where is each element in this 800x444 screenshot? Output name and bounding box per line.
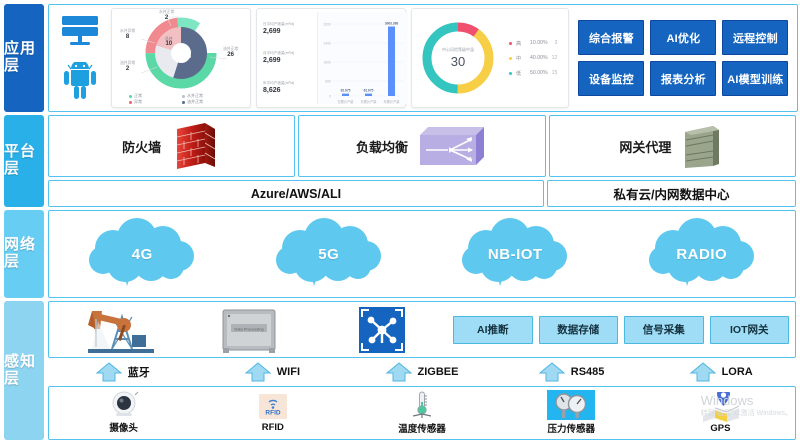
application-device-icons	[52, 8, 108, 108]
protocol-label-zigbee: ZIGBEE	[418, 366, 459, 378]
load-balancer-label: 负载均衡	[356, 137, 408, 156]
kpi-label: 日平均产液量(m³/d)	[263, 22, 316, 27]
load-balancer-icon	[416, 123, 488, 169]
legend-item: 高 10.00% 3	[509, 40, 565, 47]
legend-label: 油井正常	[187, 99, 203, 105]
layer-tag-perception: 感知层	[4, 301, 44, 440]
application-function-buttons: 综合报警 AI优化 远程控制 设备监控 报表分析 AI模型训练	[572, 8, 794, 108]
legend-swatch-icon	[509, 72, 512, 75]
up-arrow-icon	[245, 362, 271, 382]
app-button-device-monitoring[interactable]: 设备监控	[578, 61, 644, 96]
dashboard-card-risk[interactable]: 中心风险等级中温 30 高 10.00% 3	[411, 8, 569, 108]
layer-tag-network: 网络层	[4, 210, 44, 298]
legend-swatch-icon	[509, 57, 512, 60]
app-button-comprehensive-alarm[interactable]: 综合报警	[578, 20, 644, 55]
firewall-brick-icon	[169, 121, 221, 171]
gps-pin-map-icon	[697, 392, 743, 422]
legend-percent: 10.00%	[530, 40, 551, 46]
legend-percent: 50.00%	[530, 70, 548, 76]
protocol-lora: LORA	[646, 362, 796, 382]
sensor-camera: 摄像头	[49, 387, 198, 439]
legend-swatch-icon	[129, 95, 132, 98]
up-arrow-icon	[96, 362, 122, 382]
svg-text:2400: 2400	[323, 41, 331, 45]
legend-count: 3	[555, 40, 558, 46]
legend-swatch-icon	[129, 101, 132, 104]
platform-cell-firewall[interactable]: 防火墙	[48, 115, 295, 177]
server-rack-icon	[679, 122, 725, 170]
thermometer-icon	[407, 390, 437, 420]
field-device-zigbee-node	[316, 305, 449, 355]
protocol-label-rs485: RS485	[571, 366, 605, 378]
layer-tag-perception-label: 感知层	[4, 354, 44, 388]
layer-tag-platform-label: 平台层	[4, 144, 44, 178]
svg-text:62.675: 62.675	[364, 89, 374, 93]
dashboard-card-well-status[interactable]: 水井正常 2 水井异常 8 油井异常 2	[111, 8, 251, 108]
pressure-gauge-icon	[547, 390, 595, 420]
kpi-label: 月平均产液量(m³/d)	[263, 51, 316, 56]
sensor-temperature: 温度传感器	[347, 387, 496, 439]
donut-callout-label-0: 水井正常	[159, 10, 174, 15]
donut-callout-label-3: 油井正常	[223, 47, 238, 52]
svg-text:62.675: 62.675	[341, 89, 351, 93]
kpi-item: 月平均产液量(m³/d) 2,699	[263, 51, 316, 64]
edge-gateway-box-icon: Data Processing	[217, 306, 281, 354]
sensor-gps: GPS	[646, 387, 795, 439]
protocol-label-lora: LORA	[722, 366, 753, 378]
production-kpi-list: 日平均产液量(m³/d) 2,699 月平均产液量(m³/d) 2,699 年平…	[260, 12, 318, 104]
legend-label: 异常	[134, 99, 142, 105]
network-cloud-nbiot[interactable]: NB-IOT	[450, 217, 580, 291]
donut-callout-value-3: 26	[223, 52, 238, 59]
svg-text:800: 800	[325, 79, 331, 83]
application-layer-row: 应用层	[4, 4, 796, 112]
perception-protocol-row: 蓝牙 WIFI ZIGBEE	[48, 361, 796, 383]
field-device-pumpjack	[49, 305, 182, 355]
platform-footers-row: Azure/AWS/ALI 私有云/内网数据中心	[48, 180, 796, 207]
donut-callout-value-2: 2	[120, 66, 135, 73]
protocol-label-bluetooth: 蓝牙	[128, 364, 150, 380]
up-arrow-icon	[386, 362, 412, 382]
camera-icon	[107, 391, 141, 419]
perception-layer-row: 感知层	[4, 301, 796, 440]
platform-layer-row: 平台层 防火墙	[4, 115, 796, 207]
donut-callout-value-0: 2	[159, 15, 174, 22]
platform-components-row: 防火墙	[48, 115, 796, 177]
risk-center-value: 30	[451, 54, 465, 69]
protocol-rs485: RS485	[497, 362, 647, 382]
protocol-zigbee: ZIGBEE	[347, 362, 497, 382]
layer-tag-platform: 平台层	[4, 115, 44, 207]
cloud-label-4g: 4G	[132, 246, 153, 263]
network-layer-row: 网络层 4G	[4, 210, 796, 298]
cloud-label-nbiot: NB-IOT	[488, 246, 543, 263]
svg-text:3063.398: 3063.398	[385, 22, 399, 26]
iot-architecture-diagram: 应用层	[0, 0, 800, 444]
perception-button-data-storage[interactable]: 数据存储	[539, 316, 619, 344]
donut-center-value: 10	[165, 41, 173, 48]
donut-callout-value-1: 8	[120, 34, 135, 41]
kpi-item: 日平均产液量(m³/d) 2,699	[263, 22, 316, 35]
risk-donut-chart: 中心风险等级中温 30	[415, 15, 501, 101]
protocol-label-wifi: WIFI	[277, 366, 300, 378]
kpi-value: 2,699	[263, 57, 316, 64]
perception-field-devices: Data Processing	[49, 305, 449, 355]
rfid-tag-icon: RFID	[257, 393, 289, 421]
svg-text:月累计产量: 月累计产量	[361, 99, 378, 104]
perception-top-panel: Data Processing	[48, 301, 796, 358]
well-status-donut-chart: 水井正常 2 水井异常 8 油井异常 2	[115, 9, 247, 107]
svg-text:Data Processing: Data Processing	[234, 326, 263, 331]
svg-text:日累计产量: 日累计产量	[338, 99, 355, 104]
legend-swatch-icon	[509, 42, 512, 45]
gateway-proxy-label: 网关代理	[619, 137, 671, 156]
perception-sensors-panel: 摄像头 RFID RFID	[48, 386, 796, 440]
layer-tag-network-label: 网络层	[4, 237, 44, 271]
risk-legend: 高 10.00% 3 中 40.00% 12	[501, 40, 565, 77]
zigbee-network-icon	[359, 307, 405, 353]
legend-item: 低 50.00% 15	[509, 70, 565, 77]
kpi-label: 年平均产液量(m³/d)	[263, 81, 316, 86]
svg-text:年累计产量: 年累计产量	[384, 99, 401, 104]
legend-label: 高	[516, 40, 526, 47]
svg-text:0: 0	[329, 94, 331, 98]
field-device-edge-gateway: Data Processing	[182, 305, 315, 355]
svg-text:3200: 3200	[323, 22, 331, 26]
up-arrow-icon	[539, 362, 565, 382]
perception-button-signal-acquisition[interactable]: 信号采集	[624, 316, 704, 344]
sensor-label-temperature: 温度传感器	[398, 421, 446, 435]
up-arrow-icon	[690, 362, 716, 382]
app-button-ai-model-training[interactable]: AI模型训练	[722, 61, 788, 96]
layer-tag-application-label: 应用层	[4, 41, 44, 75]
legend-item: 油井正常	[182, 99, 235, 105]
legend-item: 异常	[129, 99, 182, 105]
sensor-pressure: 压力传感器	[497, 387, 646, 439]
kpi-value: 8,626	[263, 87, 316, 94]
application-panel: 水井正常 2 水井异常 8 油井异常 2	[48, 4, 798, 112]
svg-text:RFID: RFID	[265, 409, 280, 416]
network-cloud-5g[interactable]: 5G	[264, 217, 394, 291]
sensor-label-pressure: 压力传感器	[547, 421, 595, 435]
network-cloud-4g[interactable]: 4G	[77, 217, 207, 291]
network-panel: 4G 5G	[48, 210, 796, 298]
legend-item: 中 40.00% 12	[509, 55, 565, 62]
platform-cell-load-balancer[interactable]: 负载均衡	[298, 115, 545, 177]
legend-count: 15	[552, 70, 558, 76]
legend-label: 中	[516, 55, 526, 62]
perception-button-ai-inference[interactable]: AI推断	[453, 316, 533, 344]
production-bar-chart: 3200 2400 1600 800 0 62.6	[318, 12, 406, 104]
perception-button-iot-gateway[interactable]: IOT网关	[710, 316, 790, 344]
legend-count: 12	[552, 55, 558, 61]
legend-swatch-icon	[182, 95, 185, 98]
layer-tag-application: 应用层	[4, 4, 44, 112]
firewall-label: 防火墙	[122, 137, 161, 156]
platform-cell-gateway-proxy[interactable]: 网关代理	[549, 115, 796, 177]
dashboard-card-production[interactable]: 日平均产液量(m³/d) 2,699 月平均产液量(m³/d) 2,699 年平…	[256, 8, 406, 108]
legend-label: 低	[516, 70, 526, 77]
perception-edge-functions: AI推断 数据存储 信号采集 IOT网关	[449, 316, 795, 344]
dashboard-cards: 水井正常 2 水井异常 8 油井异常 2	[111, 8, 569, 108]
well-status-legend: 正常 水井正常 异常 油井正常	[129, 93, 235, 105]
donut-inner-value: 26	[184, 54, 192, 61]
protocol-wifi: WIFI	[198, 362, 348, 382]
app-button-report-analysis[interactable]: 报表分析	[650, 61, 716, 96]
risk-donut-center: 中心风险等级中温 30	[415, 15, 501, 101]
app-button-ai-optimization[interactable]: AI优化	[650, 20, 716, 55]
sensor-label-gps: GPS	[710, 423, 730, 434]
svg-text:1600: 1600	[323, 60, 331, 64]
risk-center-label: 中心风险等级中温	[442, 47, 474, 53]
kpi-value: 2,699	[263, 28, 316, 35]
legend-swatch-icon	[182, 101, 185, 104]
kpi-item: 年平均产液量(m³/d) 8,626	[263, 81, 316, 94]
network-cloud-radio[interactable]: RADIO	[637, 217, 767, 291]
protocol-bluetooth: 蓝牙	[48, 362, 198, 382]
oil-pumpjack-icon	[68, 305, 164, 355]
sensor-rfid: RFID RFID	[198, 387, 347, 439]
platform-footer-public-cloud: Azure/AWS/ALI	[48, 180, 544, 207]
donut-callout-label-1: 水井异常	[120, 29, 135, 34]
platform-footer-private-cloud: 私有云/内网数据中心	[547, 180, 796, 207]
perception-function-buttons: AI推断 数据存储 信号采集 IOT网关	[453, 316, 795, 344]
sensor-label-rfid: RFID	[262, 422, 284, 433]
production-bar-chart-svg: 3200 2400 1600 800 0 62.6	[318, 12, 406, 112]
android-icon	[62, 62, 98, 102]
donut-callout-label-2: 油井异常	[120, 61, 135, 66]
sensor-label-camera: 摄像头	[109, 420, 138, 434]
cloud-label-5g: 5G	[318, 246, 339, 263]
cloud-label-radio: RADIO	[676, 246, 727, 263]
monitor-icon	[60, 15, 100, 49]
app-button-remote-control[interactable]: 远程控制	[722, 20, 788, 55]
legend-percent: 40.00%	[530, 55, 548, 61]
